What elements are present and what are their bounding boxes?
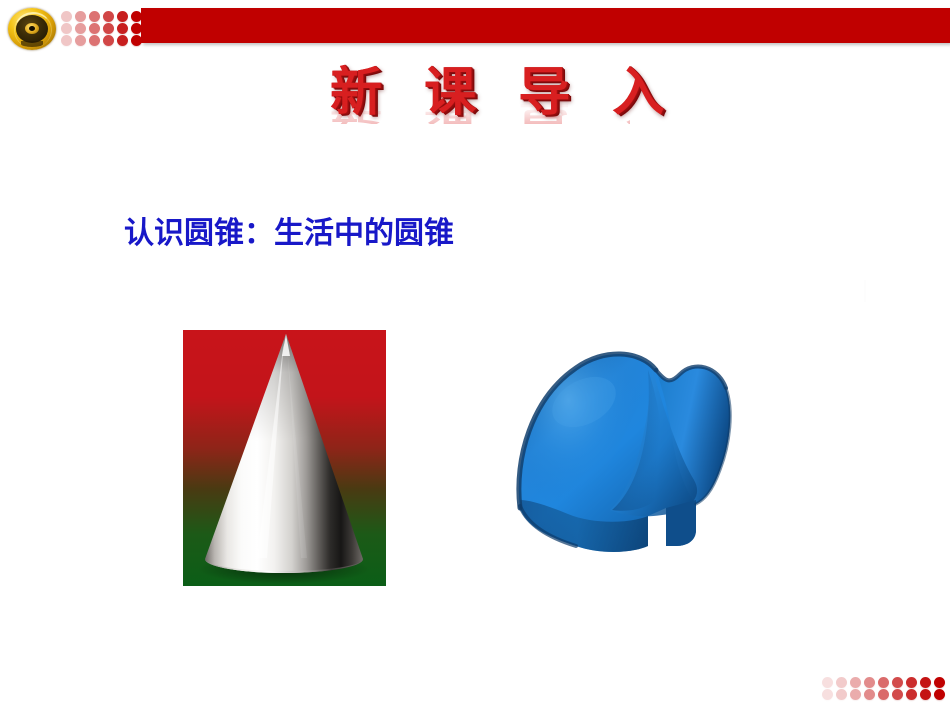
header-red-banner xyxy=(141,8,950,43)
decorative-dot xyxy=(103,23,114,34)
decorative-dot xyxy=(89,35,100,46)
decorative-dot xyxy=(117,23,128,34)
decorative-dot xyxy=(850,677,861,688)
decorative-dot xyxy=(864,689,875,700)
decorative-dot xyxy=(75,11,86,22)
decorative-dot xyxy=(61,35,72,46)
decorative-dot xyxy=(117,35,128,46)
decorative-dot xyxy=(103,11,114,22)
presentation-slide: 新 课 导 入 新 课 导 入 认识圆锥：生活中的圆锥 xyxy=(0,0,950,713)
slide-title-reflection: 新 课 导 入 xyxy=(330,92,630,124)
slide-header xyxy=(0,0,950,52)
decorative-dot xyxy=(75,35,86,46)
decorative-dot xyxy=(103,35,114,46)
chrome-cone-photo xyxy=(183,330,386,586)
decorative-dot xyxy=(822,689,833,700)
blue-double-cone-solid xyxy=(480,340,760,570)
decorative-dot xyxy=(89,23,100,34)
decorative-dot xyxy=(934,689,945,700)
chrome-cone-illustration xyxy=(183,330,386,586)
decorative-dot xyxy=(117,11,128,22)
decorative-dot xyxy=(836,689,847,700)
decorative-dot xyxy=(892,677,903,688)
footer-dot-pattern xyxy=(820,676,946,700)
decorative-dot xyxy=(906,689,917,700)
decorative-dot xyxy=(878,689,889,700)
decorative-dot xyxy=(89,11,100,22)
decorative-dot xyxy=(892,689,903,700)
logo-base xyxy=(21,41,43,47)
decorative-dot xyxy=(920,689,931,700)
header-dot-pattern xyxy=(59,10,143,46)
decorative-dot xyxy=(131,23,142,34)
logo-pupil xyxy=(29,26,35,31)
decorative-dot xyxy=(131,11,142,22)
decorative-dot xyxy=(75,23,86,34)
decorative-dot xyxy=(906,677,917,688)
decorative-dot xyxy=(836,677,847,688)
decorative-dot xyxy=(878,677,889,688)
decorative-dot xyxy=(864,677,875,688)
slide-subtitle-text: 认识圆锥：生活中的圆锥 xyxy=(124,215,454,253)
decorative-dot xyxy=(61,23,72,34)
decorative-dot xyxy=(131,35,142,46)
render-artifact-line xyxy=(864,280,866,302)
school-emblem-logo xyxy=(8,8,56,50)
slide-title-wordart: 新 课 导 入 新 课 导 入 xyxy=(330,64,630,174)
decorative-dot xyxy=(850,689,861,700)
decorative-dot xyxy=(920,677,931,688)
decorative-dot xyxy=(934,677,945,688)
decorative-dot xyxy=(822,677,833,688)
decorative-dot xyxy=(61,11,72,22)
